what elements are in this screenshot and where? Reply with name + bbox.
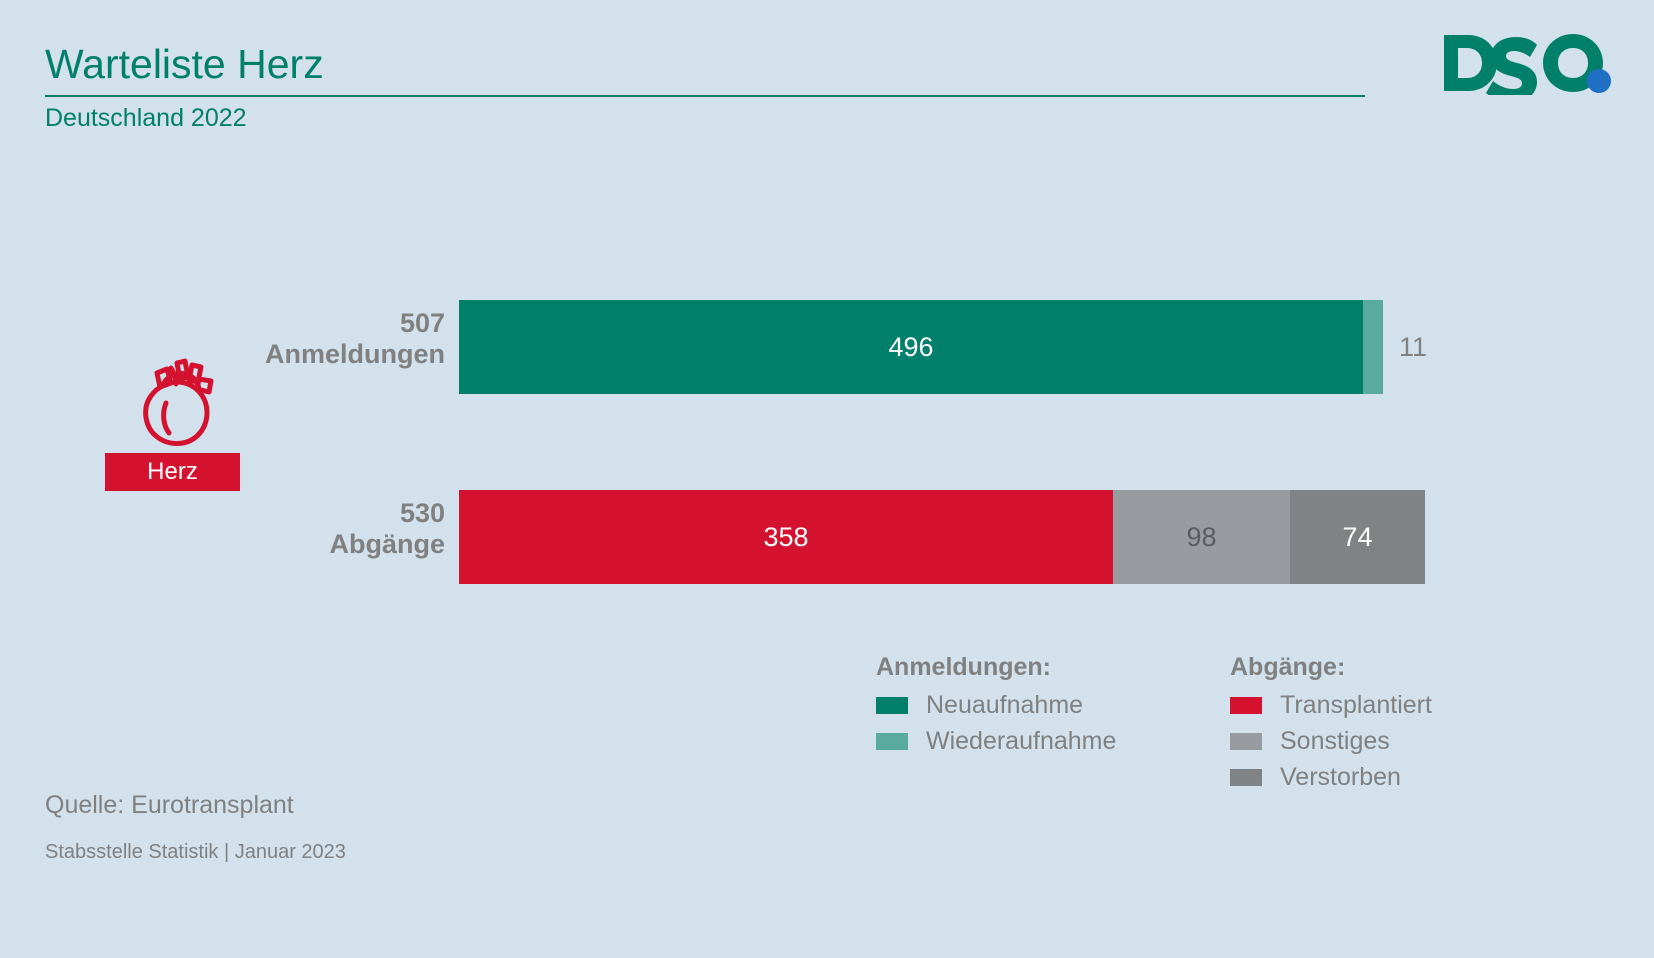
legend-item-label: Transplantiert <box>1280 687 1432 723</box>
row-category-label: Anmeldungen <box>265 338 445 370</box>
credit-note: Stabsstelle Statistik | Januar 2023 <box>45 838 346 866</box>
row-label-group: 530 Abgänge <box>150 490 445 584</box>
segment-value: 98 <box>1186 490 1216 584</box>
legend-group-title: Abgänge: <box>1230 650 1432 684</box>
legend-swatch-icon <box>1230 697 1262 714</box>
row-category-label: Abgänge <box>329 528 445 560</box>
segment-value: 496 <box>888 300 933 394</box>
legend-group-title: Anmeldungen: <box>876 650 1116 684</box>
source-note: Quelle: Eurotransplant <box>45 789 294 821</box>
legend-group-anmeldungen: Anmeldungen: Neuaufnahme Wiederaufnahme <box>876 650 1116 759</box>
segment-neuaufnahme[interactable]: 496 <box>459 300 1363 394</box>
legend-item-neuaufnahme[interactable]: Neuaufnahme <box>876 687 1116 723</box>
segment-value: 74 <box>1342 490 1372 584</box>
legend-item-verstorben[interactable]: Verstorben <box>1230 759 1432 795</box>
bar-anmeldungen: 496 11 <box>459 300 1383 394</box>
legend-item-wiederaufnahme[interactable]: Wiederaufnahme <box>876 723 1116 759</box>
bar-abgaenge: 358 98 74 <box>459 490 1425 584</box>
row-total-value: 507 <box>400 307 445 339</box>
row-label-group: 507 Anmeldungen <box>150 300 445 394</box>
segment-sonstiges[interactable]: 98 <box>1113 490 1290 584</box>
legend-item-transplantiert[interactable]: Transplantiert <box>1230 687 1432 723</box>
segment-verstorben[interactable]: 74 <box>1290 490 1425 584</box>
segment-transplantiert[interactable]: 358 <box>459 490 1113 584</box>
chart-legend: Anmeldungen: Neuaufnahme Wiederaufnahme … <box>0 650 1654 800</box>
legend-item-sonstiges[interactable]: Sonstiges <box>1230 723 1432 759</box>
legend-item-label: Verstorben <box>1280 759 1401 795</box>
infographic-page: Warteliste Herz Deutschland 2022 <box>0 0 1654 958</box>
segment-value: 358 <box>763 490 808 584</box>
legend-item-label: Neuaufnahme <box>926 687 1083 723</box>
legend-swatch-icon <box>1230 733 1262 750</box>
row-total-value: 530 <box>400 497 445 529</box>
segment-value-outside: 11 <box>1399 300 1427 394</box>
segment-wiederaufnahme[interactable] <box>1363 300 1383 394</box>
legend-item-label: Sonstiges <box>1280 723 1390 759</box>
legend-swatch-icon <box>1230 769 1262 786</box>
legend-group-abgaenge: Abgänge: Transplantiert Sonstiges Versto… <box>1230 650 1432 795</box>
legend-swatch-icon <box>876 697 908 714</box>
legend-swatch-icon <box>876 733 908 750</box>
legend-item-label: Wiederaufnahme <box>926 723 1116 759</box>
